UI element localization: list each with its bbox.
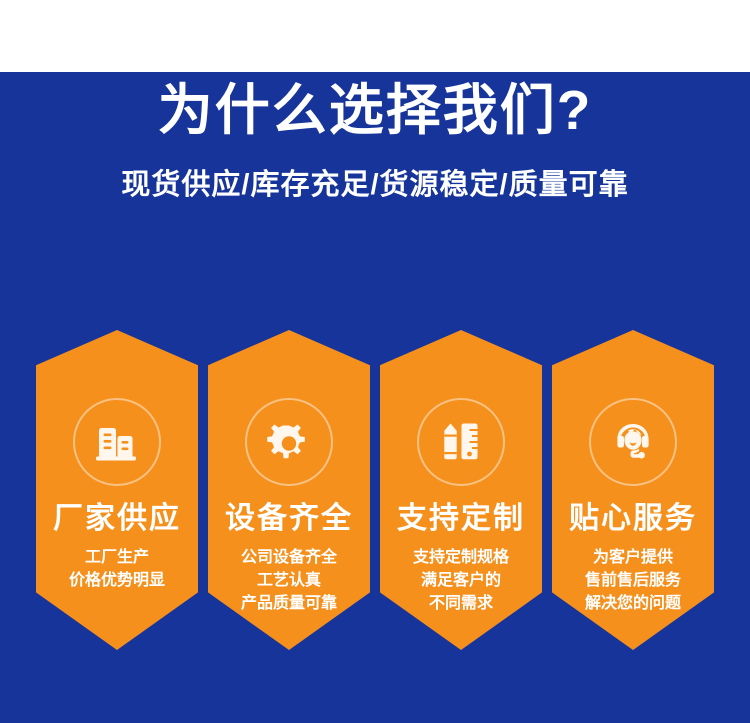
feature-card-description: 工厂生产 价格优势明显 [69, 546, 165, 592]
feature-card-title: 设备齐全 [225, 502, 353, 537]
promo-banner-page: 为什么选择我们? 现货供应/库存充足/货源稳定/质量可靠 [0, 0, 750, 723]
icon-circle-frame [417, 398, 505, 486]
page-subtitle: 现货供应/库存充足/货源稳定/质量可靠 [0, 168, 750, 203]
feature-desc-line: 产品质量可靠 [241, 592, 337, 615]
feature-desc-line: 满足客户的 [413, 569, 509, 592]
feature-desc-line: 工厂生产 [69, 546, 165, 569]
feature-card-title: 贴心服务 [569, 502, 697, 537]
feature-desc-line: 售前售后服务 [585, 569, 681, 592]
icon-circle-frame [245, 398, 333, 486]
top-white-strip [0, 0, 750, 72]
feature-desc-line: 公司设备齐全 [241, 546, 337, 569]
headset-support-icon [608, 417, 658, 467]
feature-desc-line: 不同需求 [413, 592, 509, 615]
feature-desc-line: 工艺认真 [241, 569, 337, 592]
feature-card-title: 支持定制 [397, 502, 525, 537]
feature-desc-line: 为客户提供 [585, 546, 681, 569]
feature-desc-line: 支持定制规格 [413, 546, 509, 569]
factory-building-icon [92, 417, 142, 467]
feature-card-service[interactable]: 贴心服务 为客户提供 售前售后服务 解决您的问题 [552, 330, 714, 650]
gear-icon [264, 417, 314, 467]
feature-card-description: 支持定制规格 满足客户的 不同需求 [413, 546, 509, 616]
icon-circle-frame [73, 398, 161, 486]
feature-card-description: 公司设备齐全 工艺认真 产品质量可靠 [241, 546, 337, 616]
feature-desc-line: 价格优势明显 [69, 569, 165, 592]
feature-card-list: 厂家供应 工厂生产 价格优势明显 设备齐全 公司设备齐全 工艺认真 产品质 [36, 330, 714, 650]
feature-card-factory-supply[interactable]: 厂家供应 工厂生产 价格优势明显 [36, 330, 198, 650]
pencil-ruler-icon [436, 417, 486, 467]
feature-card-customization[interactable]: 支持定制 支持定制规格 满足客户的 不同需求 [380, 330, 542, 650]
feature-card-description: 为客户提供 售前售后服务 解决您的问题 [585, 546, 681, 616]
feature-card-equipment[interactable]: 设备齐全 公司设备齐全 工艺认真 产品质量可靠 [208, 330, 370, 650]
page-title: 为什么选择我们? [0, 80, 750, 141]
feature-card-title: 厂家供应 [53, 502, 181, 537]
feature-desc-line: 解决您的问题 [585, 592, 681, 615]
icon-circle-frame [589, 398, 677, 486]
